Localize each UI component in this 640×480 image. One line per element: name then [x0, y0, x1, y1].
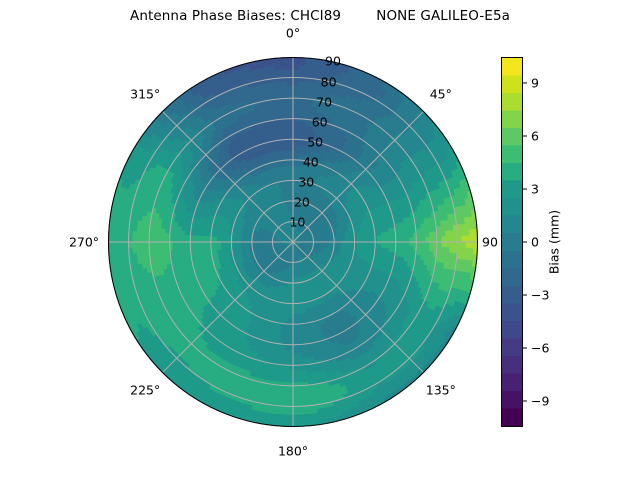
colorbar[interactable] — [501, 57, 523, 427]
colorbar-tick-3 — [523, 189, 527, 190]
colorbar-tick-label--3: −3 — [531, 287, 549, 302]
colorbar-tick--3 — [523, 294, 527, 295]
angular-tick-label-135: 135° — [426, 382, 456, 397]
polar-gridlines — [108, 57, 478, 427]
colorbar-tick-label-6: 6 — [531, 129, 539, 144]
radial-tick-label-20: 20 — [294, 194, 310, 209]
colorbar-tick--9 — [523, 400, 527, 401]
radial-tick-label-70: 70 — [316, 94, 332, 109]
colorbar-tick-label-9: 9 — [531, 76, 539, 91]
radial-tick-label-10: 10 — [289, 214, 305, 229]
radial-tick-label-80: 80 — [321, 74, 337, 89]
colorbar-tick-6 — [523, 136, 527, 137]
colorbar-tick-0 — [523, 242, 527, 243]
figure-canvas: Antenna Phase Biases: CHCI89 NONE GALILE… — [0, 0, 640, 480]
radial-tick-label-40: 40 — [303, 154, 319, 169]
angular-tick-label-180: 180° — [278, 444, 308, 459]
figure-title: Antenna Phase Biases: CHCI89 NONE GALILE… — [0, 8, 640, 24]
angular-tick-label-270: 270° — [69, 235, 99, 250]
colorbar-tick-label--9: −9 — [531, 393, 549, 408]
colorbar-tick-label-0: 0 — [531, 235, 539, 250]
colorbar-tick-label--6: −6 — [531, 340, 549, 355]
radial-tick-label-90: 90 — [325, 54, 341, 69]
angular-tick-label-0: 0° — [286, 26, 300, 41]
angular-tick-label-315: 315° — [130, 87, 160, 102]
colorbar-gradient — [501, 57, 523, 427]
colorbar-axis-label: Bias (mm) — [547, 210, 562, 274]
colorbar-tick-label-3: 3 — [531, 182, 539, 197]
colorbar-tick-9 — [523, 83, 527, 84]
radial-tick-label-30: 30 — [298, 174, 314, 189]
angular-tick-label-90: 90 — [482, 235, 498, 250]
angular-tick-label-45: 45° — [430, 87, 452, 102]
radial-tick-label-50: 50 — [307, 134, 323, 149]
angular-tick-label-225: 225° — [130, 382, 160, 397]
polar-data-area — [108, 57, 478, 427]
colorbar-tick--6 — [523, 347, 527, 348]
radial-tick-label-60: 60 — [312, 114, 328, 129]
polar-axes[interactable] — [108, 57, 478, 427]
